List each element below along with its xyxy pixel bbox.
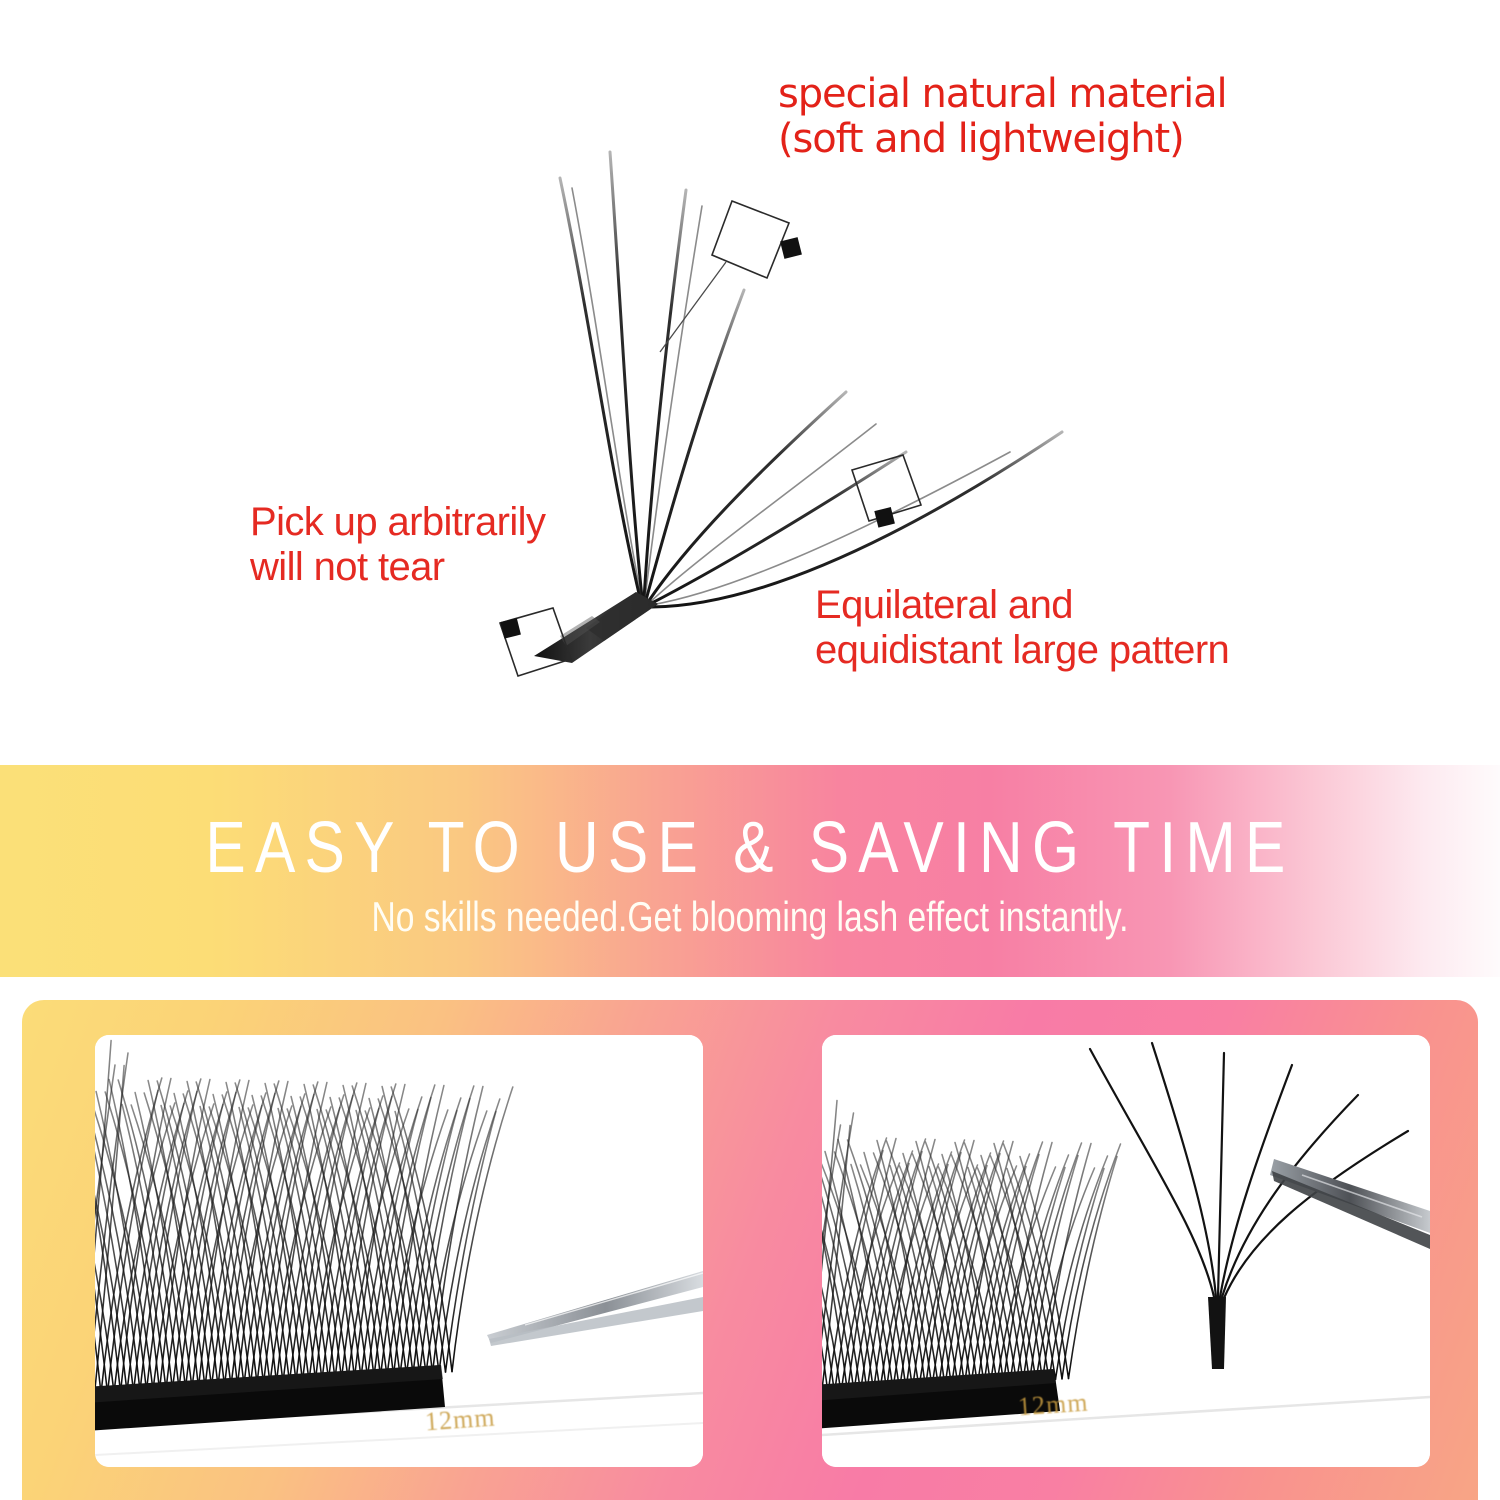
tray-size-label-left: 12mm (424, 1403, 496, 1438)
lash-base-band (534, 592, 658, 663)
callout-equilateral-equidistant: Equilateral and equidistant large patter… (815, 583, 1229, 673)
lash-fan-diagram (0, 0, 1500, 765)
callout-special-natural-material: special natural material (soft and light… (778, 72, 1227, 162)
product-photos-section: 12mm (0, 977, 1500, 1500)
tray-size-label-right: 12mm (1017, 1388, 1089, 1423)
headline-banner: EASY TO USE & SAVING TIME No skills need… (0, 765, 1500, 977)
banner-subtitle: No skills needed.Get blooming lash effec… (150, 893, 1350, 941)
lash-fan-pickup-photo (822, 1035, 1430, 1467)
lash-tray-photo (95, 1035, 703, 1467)
lash-diagram-section: special natural material (soft and light… (0, 0, 1500, 765)
photo-card-lash-tray-closeup: 12mm (95, 1035, 703, 1467)
banner-title: EASY TO USE & SAVING TIME (120, 807, 1380, 889)
photo-gradient-frame: 12mm (22, 1000, 1478, 1500)
lash-hairs (560, 152, 1062, 607)
photo-card-lash-fan-pickup: 12mm (822, 1035, 1430, 1467)
callout-pick-up-arbitrarily: Pick up arbitrarily will not tear (250, 500, 545, 590)
